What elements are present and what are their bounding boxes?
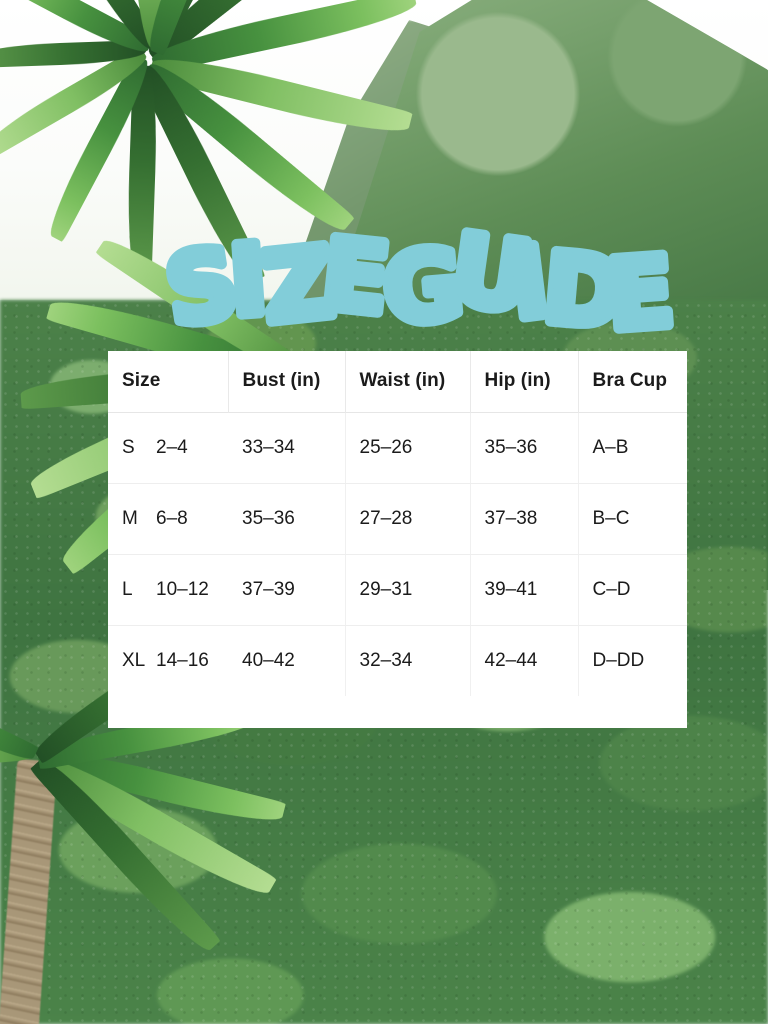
- table-row: L 10–12 37–39 29–31 39–41 C–D: [108, 554, 687, 625]
- table-row: M 6–8 35–36 27–28 37–38 B–C: [108, 483, 687, 554]
- cell-waist: 25–26: [345, 412, 470, 483]
- table-row: S 2–4 33–34 25–26 35–36 A–B: [108, 412, 687, 483]
- cell-size-code: XL: [122, 650, 156, 672]
- cell-size: XL 14–16: [108, 625, 228, 696]
- column-header-waist: Waist (in): [345, 351, 470, 412]
- cell-size: S 2–4: [108, 412, 228, 483]
- cell-size-number: 14–16: [156, 650, 209, 672]
- cell-hip: 37–38: [470, 483, 578, 554]
- cell-size-number: 10–12: [156, 579, 209, 601]
- size-guide-table: Size Bust (in) Waist (in) Hip (in) Bra C…: [108, 351, 687, 696]
- table-row: XL 14–16 40–42 32–34 42–44 D–DD: [108, 625, 687, 696]
- column-header-bra: Bra Cup: [578, 351, 687, 412]
- cell-waist: 27–28: [345, 483, 470, 554]
- cell-waist: 32–34: [345, 625, 470, 696]
- column-header-bust: Bust (in): [228, 351, 345, 412]
- cell-bust: 40–42: [228, 625, 345, 696]
- cell-bra: B–C: [578, 483, 687, 554]
- cell-bra: C–D: [578, 554, 687, 625]
- cell-hip: 42–44: [470, 625, 578, 696]
- column-header-size: Size: [108, 351, 228, 412]
- cell-size: L 10–12: [108, 554, 228, 625]
- table-header-row: Size Bust (in) Waist (in) Hip (in) Bra C…: [108, 351, 687, 412]
- cell-size-code: M: [122, 508, 156, 530]
- cell-hip: 35–36: [470, 412, 578, 483]
- size-guide-card: Size Bust (in) Waist (in) Hip (in) Bra C…: [108, 351, 687, 728]
- cell-size-number: 6–8: [156, 508, 188, 530]
- cell-size-code: L: [122, 579, 156, 601]
- table-body: S 2–4 33–34 25–26 35–36 A–B M 6–8 35–36 …: [108, 412, 687, 696]
- cell-bra: D–DD: [578, 625, 687, 696]
- cell-waist: 29–31: [345, 554, 470, 625]
- cell-hip: 39–41: [470, 554, 578, 625]
- cell-bust: 35–36: [228, 483, 345, 554]
- column-header-hip: Hip (in): [470, 351, 578, 412]
- cell-bust: 37–39: [228, 554, 345, 625]
- cell-size: M 6–8: [108, 483, 228, 554]
- cell-size-code: S: [122, 437, 156, 459]
- cell-size-number: 2–4: [156, 437, 188, 459]
- table-header: Size Bust (in) Waist (in) Hip (in) Bra C…: [108, 351, 687, 412]
- cell-bra: A–B: [578, 412, 687, 483]
- cell-bust: 33–34: [228, 412, 345, 483]
